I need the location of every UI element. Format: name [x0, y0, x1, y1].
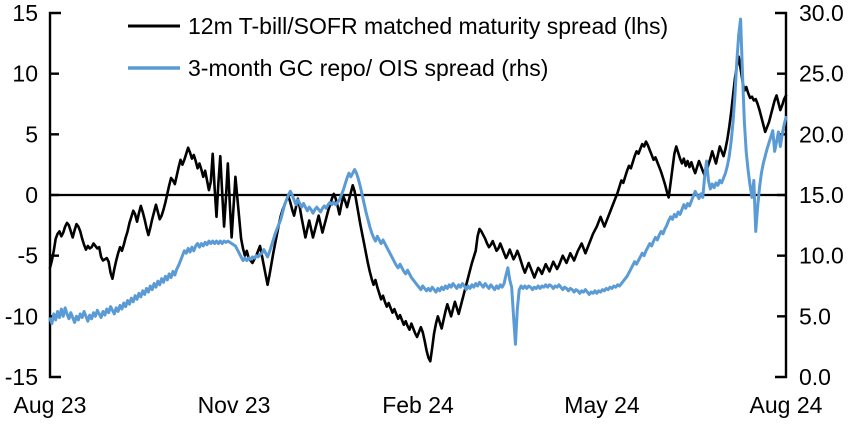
left-axis-tick-label: -10 [5, 303, 38, 329]
left-axis-tick-label: 15 [12, 0, 38, 26]
x-axis-tick-label: Feb 24 [382, 392, 454, 418]
x-axis-tick-label: Aug 23 [14, 392, 87, 418]
right-axis-tick-label: 0.0 [799, 364, 831, 390]
left-axis-tick-label: -15 [5, 364, 38, 390]
x-axis-tick-label: Aug 24 [750, 392, 823, 418]
right-axis-tick-label: 20.0 [799, 121, 844, 147]
legend-label: 3-month GC repo/ OIS spread (rhs) [188, 55, 548, 81]
line-chart: 151050-5-10-15 30.025.020.015.010.05.00.… [0, 0, 852, 432]
x-axis-tick-label: Nov 23 [198, 392, 271, 418]
chart-container: 151050-5-10-15 30.025.020.015.010.05.00.… [0, 0, 852, 432]
right-axis-tick-label: 5.0 [799, 303, 831, 329]
x-axis-tick-label: May 24 [564, 392, 640, 418]
right-axis-tick-label: 30.0 [799, 0, 844, 26]
left-axis-tick-label: 10 [12, 61, 38, 87]
legend-label: 12m T-bill/SOFR matched maturity spread … [188, 13, 668, 39]
left-axis-tick-label: 0 [25, 182, 38, 208]
right-axis-tick-label: 25.0 [799, 61, 844, 87]
right-axis-tick-label: 15.0 [799, 182, 844, 208]
left-axis-tick-label: -5 [18, 243, 38, 269]
left-axis-tick-label: 5 [25, 121, 38, 147]
right-axis-tick-label: 10.0 [799, 243, 844, 269]
